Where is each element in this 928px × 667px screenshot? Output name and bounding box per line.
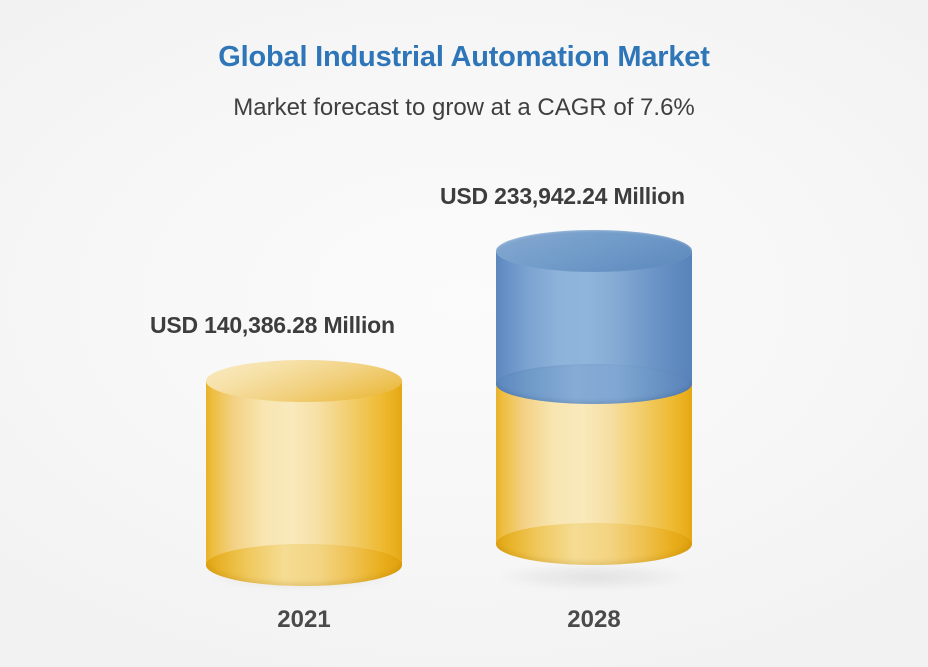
bar-2028-segment-joint xyxy=(496,364,692,404)
value-label-2028: USD 233,942.24 Million xyxy=(440,183,685,210)
bar-2021 xyxy=(206,360,402,586)
bar-2028-base-body xyxy=(496,380,692,544)
category-label-2028: 2028 xyxy=(496,606,692,634)
bar-2028 xyxy=(496,230,692,586)
chart-subtitle: Market forecast to grow at a CAGR of 7.6… xyxy=(0,94,928,123)
bar-2021-top-cap xyxy=(206,360,402,402)
bar-2021-bottom-cap xyxy=(206,544,402,586)
bar-2021-body xyxy=(206,381,402,565)
category-label-2021: 2021 xyxy=(206,606,402,634)
bar-shadow xyxy=(502,564,686,590)
bar-2028-bottom-cap xyxy=(496,523,692,565)
bar-2028-top-cap xyxy=(496,230,692,272)
chart-container: Global Industrial Automation Market Mark… xyxy=(0,0,928,667)
value-label-2021: USD 140,386.28 Million xyxy=(150,312,395,339)
chart-title: Global Industrial Automation Market xyxy=(0,40,928,75)
